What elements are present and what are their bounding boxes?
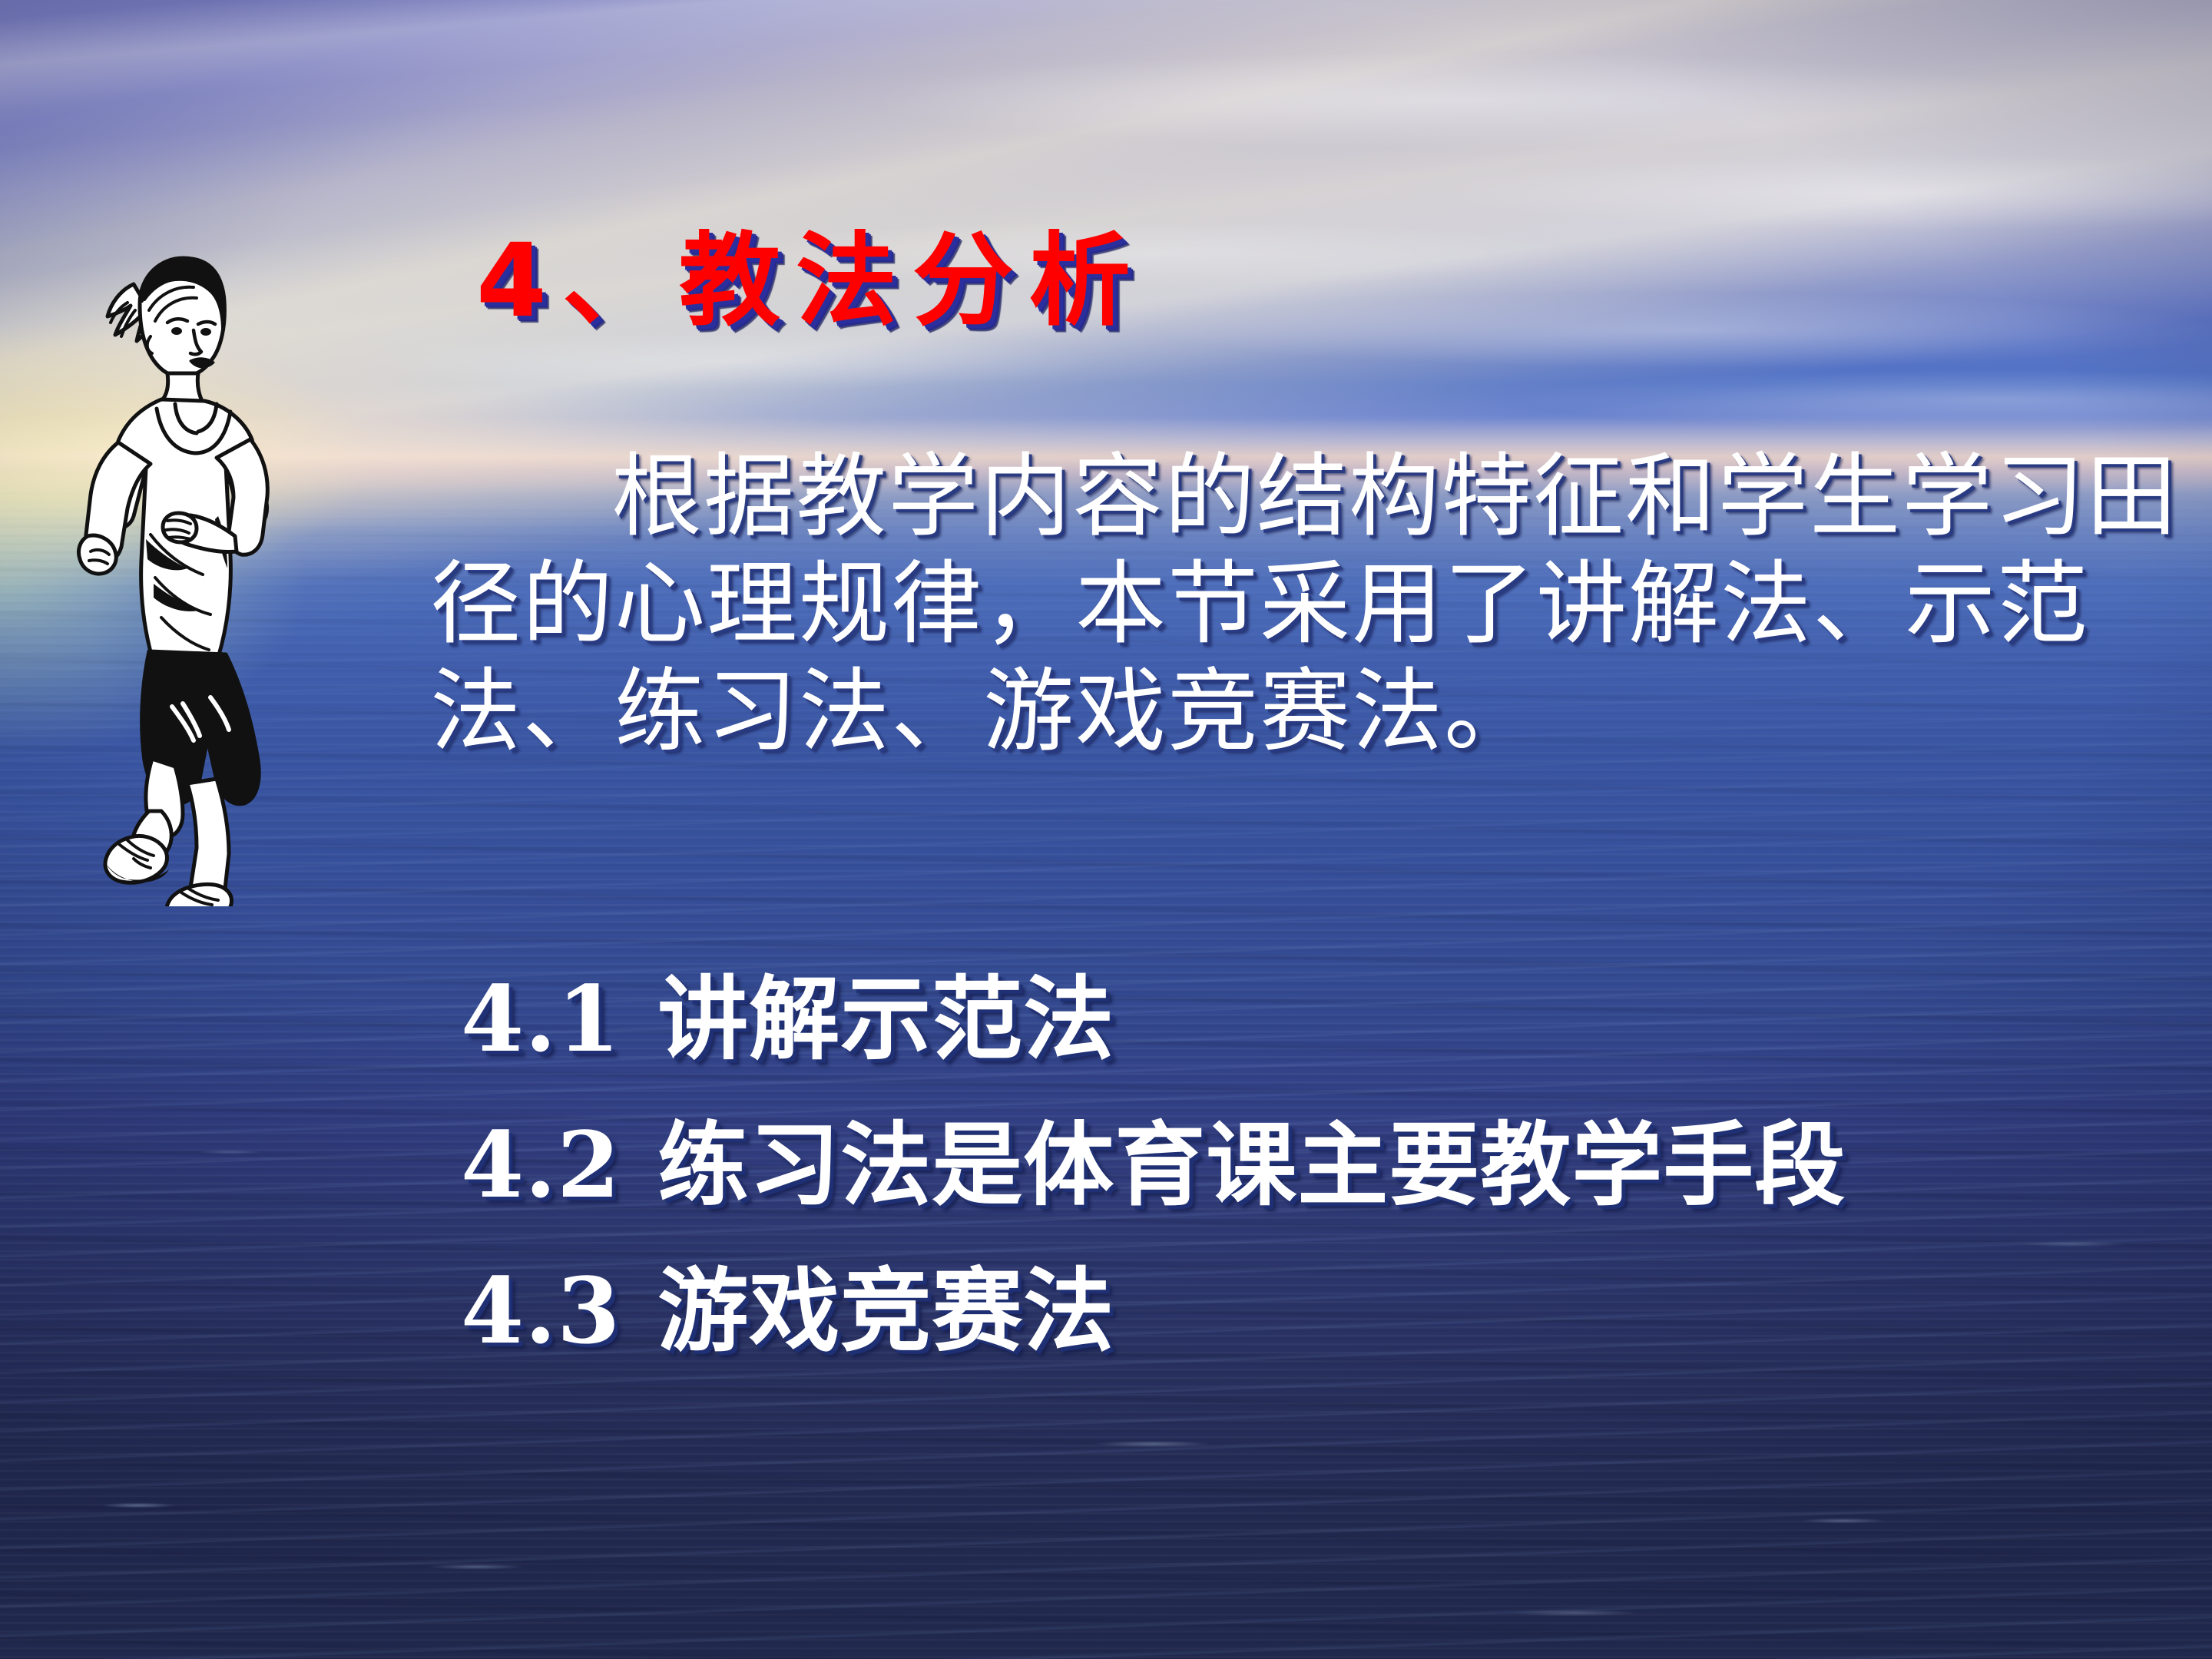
list-item-label: 讲解示范法 (657, 965, 1114, 1072)
runner-clipart (60, 230, 290, 906)
list-item-label: 游戏竞赛法 (657, 1257, 1114, 1364)
slide-title: 4、教法分析 (476, 230, 1398, 332)
body-paragraph: 根据教学内容的结构特征和学生学习田径的心理规律，本节采用了讲解法、示范法、练习法… (430, 442, 2197, 765)
list-item: 4.2练习法是体育课主要教学手段 (461, 1092, 2212, 1238)
runner-icon (60, 230, 290, 906)
list-item-label: 练习法是体育课主要教学手段 (657, 1111, 1846, 1218)
slide-body-text: 根据教学内容的结构特征和学生学习田径的心理规律，本节采用了讲解法、示范法、练习法… (430, 442, 2197, 765)
list-item-number: 4.3 (461, 1257, 621, 1364)
presentation-slide: 4、教法分析 根据教学内容的结构特征和学生学习田径的心理规律，本节采用了讲解法、… (0, 0, 2212, 1659)
method-list: 4.1讲解示范法 4.2练习法是体育课主要教学手段 4.3游戏竞赛法 (461, 946, 2212, 1384)
list-item: 4.3游戏竞赛法 (461, 1238, 2212, 1384)
list-item-number: 4.2 (461, 1111, 621, 1218)
list-item-number: 4.1 (461, 965, 621, 1072)
list-item: 4.1讲解示范法 (461, 946, 2212, 1092)
